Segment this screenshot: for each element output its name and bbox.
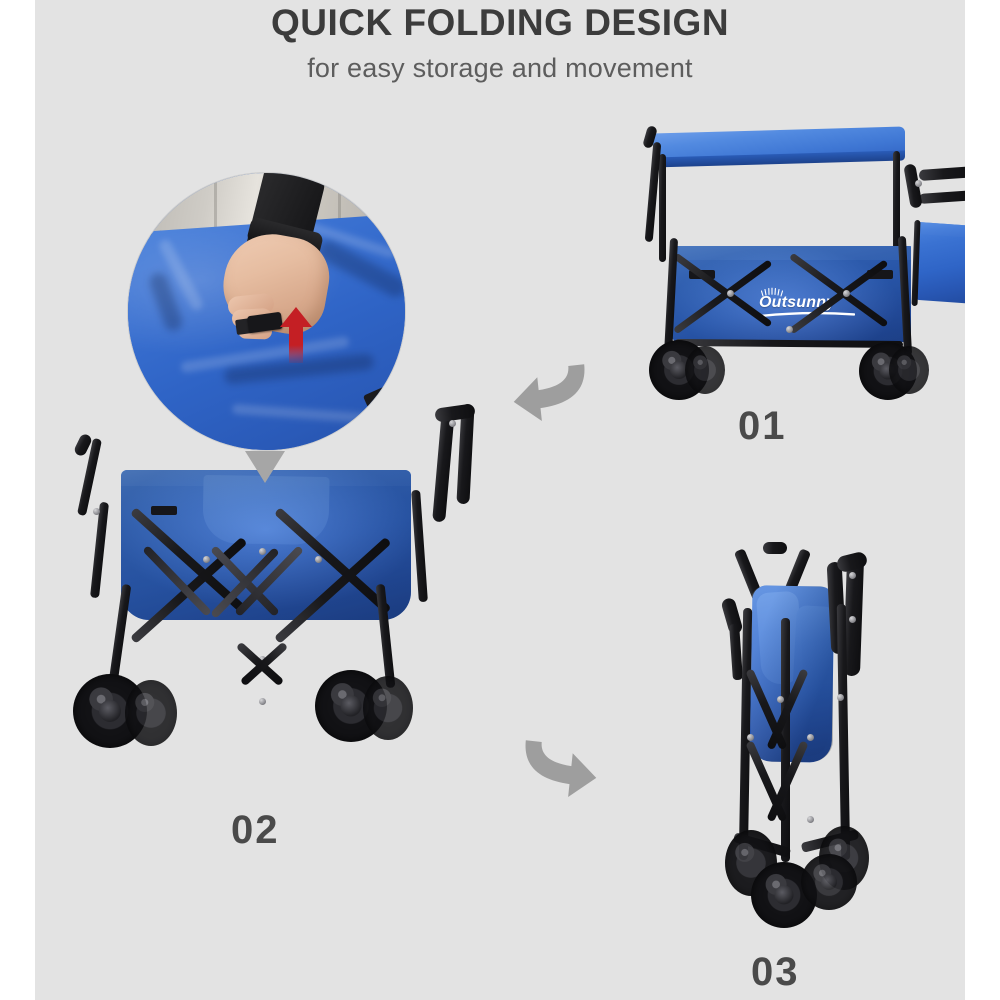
arrow-02-to-03 [519, 738, 601, 800]
frame-rivet [747, 734, 754, 741]
handle-rivet [915, 180, 922, 187]
frame-rivet [837, 694, 844, 701]
frame-rivet [777, 696, 784, 703]
joint-rivet [93, 508, 100, 515]
frame-rivet [203, 556, 210, 563]
wheel-folded-front-right [801, 854, 857, 910]
frame-rivet [807, 816, 814, 823]
header: QUICK FOLDING DESIGN for easy storage an… [0, 0, 1000, 84]
bed-strap [151, 506, 177, 515]
wheel-hub [99, 700, 121, 722]
push-handle-bar [919, 166, 965, 181]
product-image-step-01: Outsunny [631, 118, 965, 418]
x-frame-rivet-left [727, 290, 734, 297]
handle-rivet [849, 572, 856, 579]
x-frame-rivet-right [843, 290, 850, 297]
wheel-hub [775, 886, 794, 905]
canopy-post-left [659, 154, 666, 262]
frame-rivet [259, 548, 266, 555]
carry-strap-apex [763, 542, 787, 554]
handle-rivet [849, 616, 856, 623]
frame-rivet [259, 698, 266, 705]
front-upright [411, 490, 428, 602]
wheel-hub [341, 696, 362, 717]
rear-upright [90, 502, 109, 598]
sunburst-icon [761, 287, 783, 297]
page-title: QUICK FOLDING DESIGN [0, 0, 1000, 43]
wheel-rear-left [685, 346, 725, 394]
product-image-step-03 [697, 548, 917, 948]
wheel-front-right-inner [363, 676, 413, 740]
page-subtitle: for easy storage and movement [0, 53, 1000, 84]
wheel-rear-right [889, 346, 929, 394]
wheel-hub [821, 874, 837, 890]
step-label-02: 02 [231, 808, 280, 853]
step-label-03: 03 [751, 950, 800, 995]
push-handle-lower [919, 190, 965, 204]
infographic-stage: Outsunny [0, 0, 1000, 1000]
wheel-rear-left-inner [125, 680, 177, 746]
folded-cloth-shading [751, 586, 833, 762]
red-up-arrow-icon [276, 305, 316, 365]
step-label-01: 01 [738, 404, 787, 449]
infographic-canvas: Outsunny [35, 0, 965, 1000]
inset-pointer-triangle [243, 450, 287, 484]
arrow-01-to-02 [509, 362, 591, 424]
x-frame-rivet-center [786, 326, 793, 333]
frame-rivet [807, 734, 814, 741]
side-grip-post [729, 624, 743, 681]
fold-release-detail-inset [128, 173, 405, 450]
frame-rivet [315, 556, 322, 563]
handle-rivet [449, 420, 456, 427]
